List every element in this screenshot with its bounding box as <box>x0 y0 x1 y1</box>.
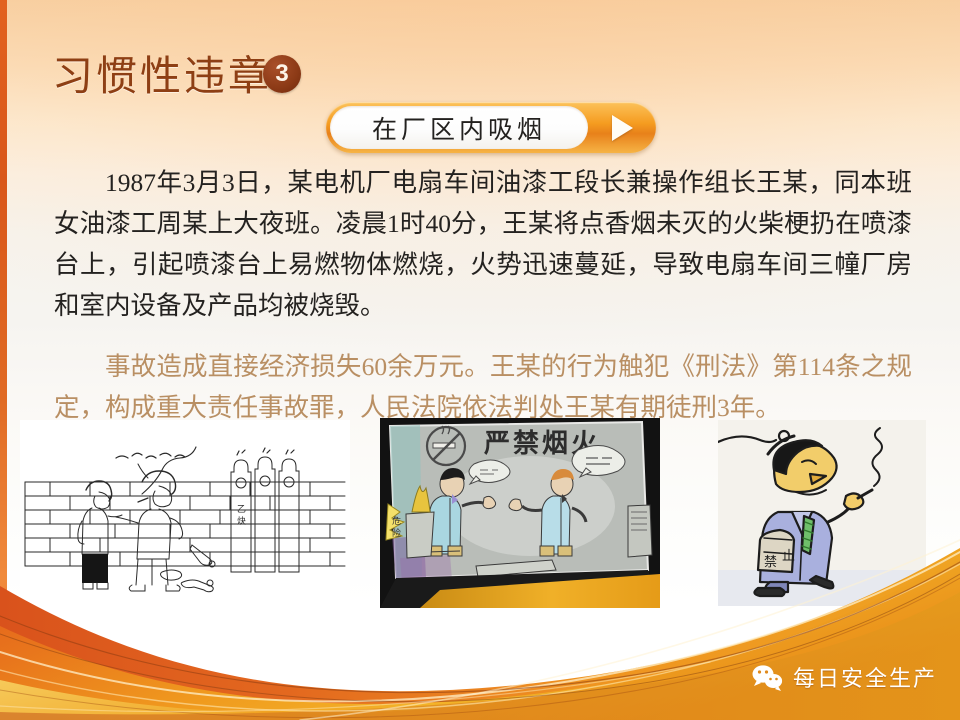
body-text-block: 1987年3月3日，某电机厂电扇车间油漆工段长兼操作组长王某，同本班女油漆工周某… <box>54 162 912 428</box>
page-title: 习惯性违章 <box>52 42 272 102</box>
svg-text:乙: 乙 <box>237 504 246 514</box>
svg-text:危: 危 <box>392 515 401 526</box>
wechat-bubbles-icon <box>750 663 784 691</box>
svg-text:炔: 炔 <box>237 515 246 526</box>
wechat-account-tag: 每日安全生产 <box>750 660 937 694</box>
topic-banner-inner: 在厂区内吸烟 <box>330 106 588 149</box>
case-consequence-paragraph: 事故造成直接经济损失60余万元。王某的行为触犯《刑法》第114条之规定，构成重大… <box>54 346 912 428</box>
topic-banner-label: 在厂区内吸烟 <box>372 110 546 146</box>
wechat-account-name: 每日安全生产 <box>793 661 937 693</box>
chapter-number-badge: 3 <box>263 55 301 93</box>
slide-root: 习惯性违章 3 在厂区内吸烟 1987年3月3日，某电机厂电扇车间油漆工段长兼操… <box>0 0 960 720</box>
play-triangle-icon[interactable] <box>588 106 652 149</box>
slide-header: 习惯性违章 3 <box>0 0 960 100</box>
case-description-paragraph: 1987年3月3日，某电机厂电扇车间油漆工段长兼操作组长王某，同本班女油漆工周某… <box>54 162 912 326</box>
topic-banner[interactable]: 在厂区内吸烟 <box>326 102 656 153</box>
